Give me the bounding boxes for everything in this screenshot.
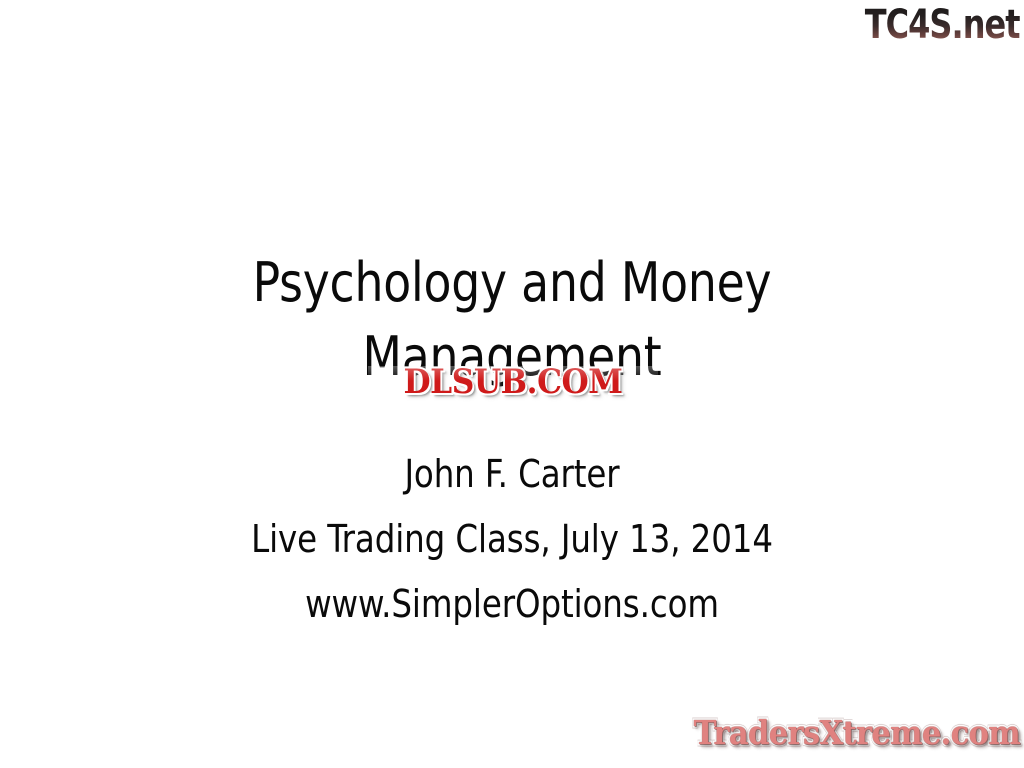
slide-subtitle: John F. Carter Live Trading Class, July … <box>0 442 1024 637</box>
tc4s-logo-text: TC4S.net <box>865 3 1020 47</box>
dlsub-watermark-text: DLSUB.COM <box>404 363 623 401</box>
tradersxtreme-site-logo: TradersXtreme.com <box>684 708 1020 758</box>
subtitle-event: Live Trading Class, July 13, 2014 <box>26 507 999 572</box>
tradersxtreme-logo-text: TradersXtreme.com <box>694 714 1020 752</box>
subtitle-presenter: John F. Carter <box>26 442 999 507</box>
presentation-slide: TC4S.net Psychology and Money Management… <box>0 0 1024 768</box>
title-line-1: Psychology and Money <box>31 246 994 320</box>
dlsub-watermark: DLSUB.COM <box>368 360 658 404</box>
subtitle-website: www.SimplerOptions.com <box>26 572 999 637</box>
tc4s-site-logo: TC4S.net <box>826 2 1020 48</box>
